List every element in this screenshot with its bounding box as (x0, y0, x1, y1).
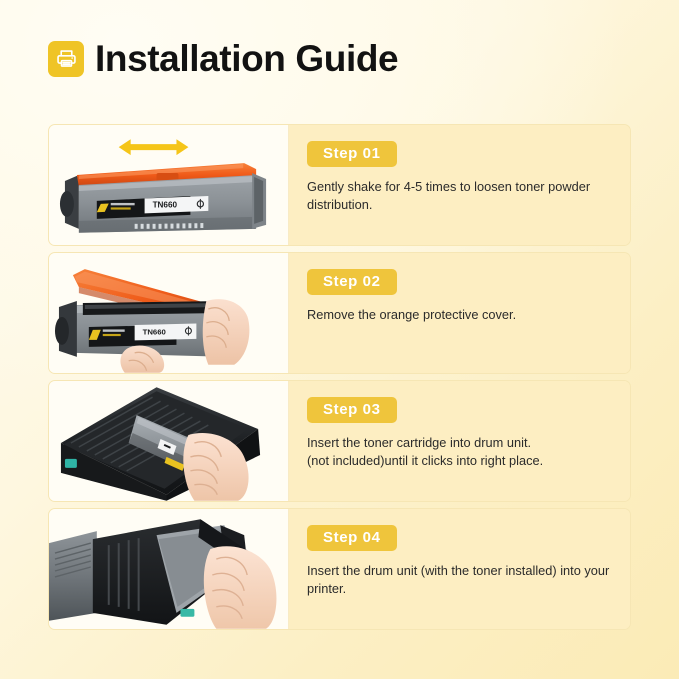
hand-printer (204, 546, 277, 628)
step-description: Gently shake for 4-5 times to loosen ton… (307, 178, 612, 214)
step-badge: Step 01 (307, 141, 397, 167)
step-badge: Step 02 (307, 269, 397, 295)
step-badge: Step 03 (307, 397, 397, 423)
step-body: Step 02 Remove the orange protective cov… (289, 253, 630, 373)
remove-orange-cover-photo: TN660 (49, 253, 289, 373)
step-badge: Step 04 (307, 525, 397, 551)
step-card: TN660 (48, 252, 631, 374)
hand-right (203, 299, 250, 365)
step-body: Step 03 Insert the toner cartridge into … (289, 381, 630, 501)
shake-arrow (119, 139, 189, 155)
step-card: Step 04 Insert the drum unit (with the t… (48, 508, 631, 630)
steps-list: TN660 (48, 124, 631, 636)
step-card: TN660 (48, 124, 631, 246)
step-description: Insert the drum unit (with the toner ins… (307, 562, 612, 598)
step-body: Step 04 Insert the drum unit (with the t… (289, 509, 630, 629)
toner-cartridge-shake-illustration: TN660 (49, 125, 289, 245)
installation-guide-page: Installation Guide (0, 0, 679, 679)
printer-icon (48, 41, 84, 77)
step-description: Insert the toner cartridge into drum uni… (307, 434, 612, 470)
step-card: Step 03 Insert the toner cartridge into … (48, 380, 631, 502)
step-body: Step 01 Gently shake for 4-5 times to lo… (289, 125, 630, 245)
insert-drum-into-printer-photo (49, 509, 289, 629)
cartridge-model-label: TN660 (153, 200, 178, 209)
page-title: Installation Guide (95, 40, 398, 77)
page-header: Installation Guide (48, 40, 398, 77)
insert-toner-into-drum-photo (49, 381, 289, 501)
cartridge-model-label: TN660 (143, 327, 166, 336)
step-description: Remove the orange protective cover. (307, 306, 612, 324)
